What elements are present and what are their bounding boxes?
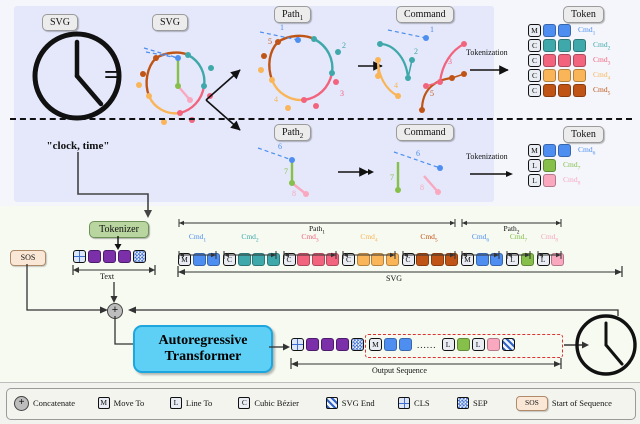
plus-circle-icon: +	[14, 396, 29, 411]
caption-to-tokenizer-connector	[70, 152, 160, 220]
legend-item-label: Concatenate	[33, 398, 75, 408]
cmd-token-m: M	[528, 144, 541, 157]
cmd-bracket-label: Cmd5	[402, 232, 456, 246]
svg-text:2: 2	[414, 47, 418, 56]
svg-text:5: 5	[430, 89, 434, 98]
token-row: MCmd6	[528, 144, 595, 157]
cmd-bracket-label: Cmd2	[223, 232, 277, 246]
legend-item-label: Cubic Bézier	[254, 398, 299, 408]
cmd-bracket-bar	[506, 247, 531, 256]
cmd-bracket-bar	[283, 247, 337, 256]
cmd-bracket-label: Cmd6	[461, 232, 500, 246]
svg-label-left: SVG	[42, 14, 78, 31]
move-to-icon: M	[98, 397, 110, 409]
svg-text:3: 3	[448, 57, 452, 66]
cmd-bracket-bar	[461, 247, 500, 256]
arg-token	[558, 144, 571, 157]
token-row: LCmd7	[528, 159, 595, 172]
tokenization2-arrow	[470, 166, 514, 184]
svg-text:2: 2	[342, 41, 346, 50]
legend-item: SOSStart of Sequence	[516, 396, 630, 411]
arg-token	[543, 84, 556, 97]
equals-symbol: =	[104, 62, 119, 88]
arg-token	[573, 69, 586, 82]
arg-token	[573, 84, 586, 97]
legend-item-label: Move To	[114, 398, 145, 408]
cls-icon	[398, 397, 410, 409]
cmd-label: Cmd4	[593, 70, 610, 82]
arg-token	[543, 159, 556, 172]
svg-text:1: 1	[280, 23, 284, 32]
cmd-bracket-label: Cmd1	[178, 232, 217, 246]
cmd-label: Cmd8	[563, 175, 580, 187]
legend-item: CLS	[398, 397, 457, 409]
token-row: CCmd5	[528, 84, 610, 97]
cmd-label: Cmd2	[593, 40, 610, 52]
cmd-bracket-label: Cmd8	[537, 232, 562, 246]
svg-text:5: 5	[268, 37, 272, 46]
arg-token	[558, 84, 571, 97]
arg-token	[543, 144, 556, 157]
cmd-bracket-bar	[178, 247, 217, 256]
split-arrows	[204, 56, 250, 144]
arg-token	[558, 24, 571, 37]
cmd-label: Cmd7	[563, 160, 580, 172]
command1-drawing: 1 2 3 4 5	[364, 20, 474, 116]
cmd-bracket-label: Cmd3	[283, 232, 337, 246]
token-row: CCmd2	[528, 39, 610, 52]
arg-token	[543, 174, 556, 187]
cls-token	[291, 338, 304, 351]
sep-token	[133, 250, 146, 263]
svg-text:6: 6	[416, 149, 420, 158]
cmd-token-m: M	[369, 338, 382, 351]
cmd-bracket: Cmd6	[461, 232, 500, 256]
cmd-bracket: Cmd1	[178, 232, 217, 256]
output-sequence-bracket	[289, 358, 565, 370]
arg-token	[558, 39, 571, 52]
transformer-label-line1: Autoregressive	[159, 333, 248, 349]
cmd-bracket-label: Cmd7	[506, 232, 531, 246]
cmd-token-l: L	[442, 338, 455, 351]
arg-token	[543, 69, 556, 82]
cmd-bracket: Cmd3	[283, 232, 337, 256]
cmd-bracket: Cmd2	[223, 232, 277, 256]
arg-token	[558, 69, 571, 82]
token-row: MCmd1	[528, 24, 610, 37]
output-prefix-tokens	[291, 338, 364, 351]
cmd-token-l: L	[528, 174, 541, 187]
arg-token	[543, 39, 556, 52]
arg-token	[399, 338, 412, 351]
legend-item: SEP	[457, 397, 516, 409]
path-brackets: Path1Path2	[178, 215, 638, 233]
path-bracket-bar	[178, 215, 456, 224]
cubic-bezier-icon: C	[238, 397, 250, 409]
arg-token	[558, 54, 571, 67]
svg-text:3: 3	[340, 89, 344, 98]
text-token-row	[73, 250, 146, 263]
legend-item: +Concatenate	[14, 396, 98, 411]
legend-item-label: SVG End	[342, 398, 375, 408]
tokenization1-label: Tokenization	[466, 48, 508, 57]
svg-end-icon	[326, 397, 338, 409]
token-row: CCmd3	[528, 54, 610, 67]
row-divider	[10, 118, 632, 120]
cmd-brackets: Cmd1Cmd2Cmd3Cmd4Cmd5Cmd6Cmd7Cmd8	[178, 232, 638, 252]
token-grid-path1: MCmd1CCmd2CCmd3CCmd4CCmd5	[528, 24, 610, 99]
text-token	[336, 338, 349, 351]
cmd-bracket-bar	[223, 247, 277, 256]
arg-token	[573, 39, 586, 52]
sep-icon	[457, 397, 469, 409]
cmd-token-c: C	[528, 69, 541, 82]
token-grid-path2: MCmd6LCmd7LCmd8	[528, 144, 595, 189]
autoregressive-transformer-block[interactable]: Autoregressive Transformer	[133, 325, 273, 373]
text-token	[88, 250, 101, 263]
legend-item-label: Line To	[186, 398, 212, 408]
tokenization2-label: Tokenization	[466, 152, 508, 161]
text-token	[321, 338, 334, 351]
svg-text:8: 8	[420, 183, 424, 192]
cmd-token-c: C	[528, 54, 541, 67]
arg-token	[457, 338, 470, 351]
svg-text:1: 1	[430, 25, 434, 34]
cmd-token-l: L	[472, 338, 485, 351]
svg-text:7: 7	[390, 173, 394, 182]
cmd-label: Cmd1	[578, 25, 595, 37]
sos-to-concat-line	[20, 264, 112, 314]
arg-token	[573, 54, 586, 67]
sep-token	[351, 338, 364, 351]
arg-token	[384, 338, 397, 351]
token1-label: Token	[563, 6, 604, 23]
cmd-label: Cmd6	[578, 145, 595, 157]
cmd-bracket: Cmd4	[342, 232, 396, 256]
path2-label-text: Path	[282, 127, 300, 138]
svg-text:8: 8	[292, 189, 296, 198]
cmd-bracket: Cmd7	[506, 232, 531, 256]
figure-root: SVG "clock, time" = SVG	[0, 0, 640, 424]
text-token	[306, 338, 319, 351]
cmd-bracket-bar	[402, 247, 456, 256]
transformer-label-line2: Transformer	[159, 349, 248, 365]
svg-text:4: 4	[394, 81, 398, 90]
token-row: LCmd8	[528, 174, 595, 187]
end-token	[502, 338, 515, 351]
cls-token	[73, 250, 86, 263]
legend-item-label: CLS	[414, 398, 430, 408]
cmd-token-m: M	[528, 24, 541, 37]
command2-drawing: 6 7 8	[380, 138, 476, 202]
arg-token	[487, 338, 500, 351]
output-clock-icon	[572, 312, 640, 380]
svg-sequence-to-concat-line	[122, 300, 622, 320]
cmd-token-c: C	[528, 84, 541, 97]
arg-token	[543, 24, 556, 37]
legend-item: SVG End	[326, 397, 398, 409]
svg-label-right: SVG	[152, 14, 188, 31]
token2-label: Token	[563, 126, 604, 143]
text-token	[118, 250, 131, 263]
tokenizer-out-arrow	[113, 236, 123, 250]
output-generated-tokens: M......LL	[369, 338, 515, 351]
text-to-concat-arrow	[109, 282, 119, 304]
svg-text:7: 7	[284, 167, 288, 176]
cmd-bracket-bar	[537, 247, 562, 256]
cmd-label: Cmd3	[593, 55, 610, 67]
token-row: CCmd4	[528, 69, 610, 82]
legend-item-label: Start of Sequence	[552, 398, 612, 408]
arg-token	[543, 54, 556, 67]
cmd-token-c: C	[528, 39, 541, 52]
input-caption: "clock, time"	[32, 140, 124, 152]
tokenization1-arrow	[470, 62, 514, 80]
cmd-token-l: L	[528, 159, 541, 172]
cmd-bracket: Cmd8	[537, 232, 562, 256]
legend-item: LLine To	[170, 397, 238, 409]
legend-items: +ConcatenateMMove ToLLine ToCCubic Bézie…	[14, 396, 630, 410]
cmd-label: Cmd5	[593, 85, 610, 97]
legend-item-label: SEP	[473, 398, 488, 408]
cmd-bracket: Cmd5	[402, 232, 456, 256]
path1-drawing: 1 2 3 4 5	[252, 18, 356, 116]
path2-to-command-arrow	[338, 164, 374, 182]
svg-bracket-label: SVG	[386, 274, 402, 283]
line-to-icon: L	[170, 397, 182, 409]
text-token	[103, 250, 116, 263]
output-bracket-label: Output Sequence	[372, 366, 427, 375]
legend-item: CCubic Bézier	[238, 397, 325, 409]
transformer-out-arrow	[269, 342, 291, 352]
cmd-bracket-bar	[342, 247, 396, 256]
legend-item: MMove To	[98, 397, 170, 409]
path-bracket-bar	[461, 215, 562, 224]
svg-text:4: 4	[274, 95, 278, 104]
cmd-bracket-label: Cmd4	[342, 232, 396, 246]
svg-text:6: 6	[278, 142, 282, 151]
sos-icon: SOS	[516, 396, 548, 411]
ellipsis: ......	[417, 340, 437, 350]
